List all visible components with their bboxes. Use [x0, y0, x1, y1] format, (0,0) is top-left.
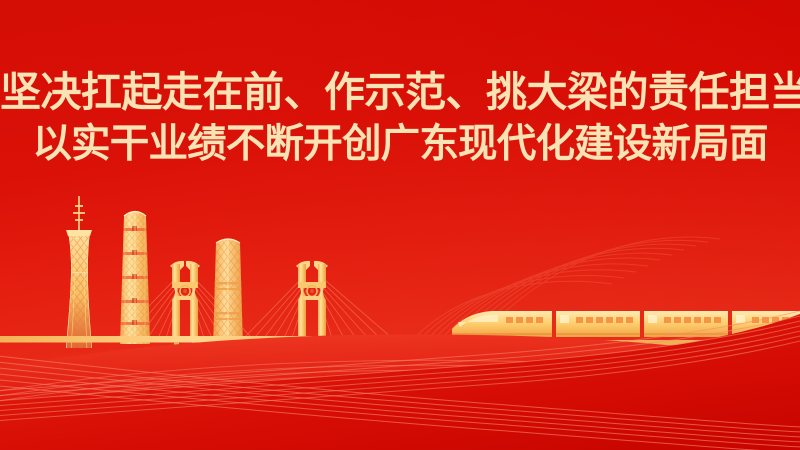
poster-canvas: 坚决扛起走在前、作示范、挑大梁的责任担当 以实干业绩不断开创广东现代化建设新局面	[0, 0, 800, 450]
poster-illustration	[0, 0, 800, 450]
